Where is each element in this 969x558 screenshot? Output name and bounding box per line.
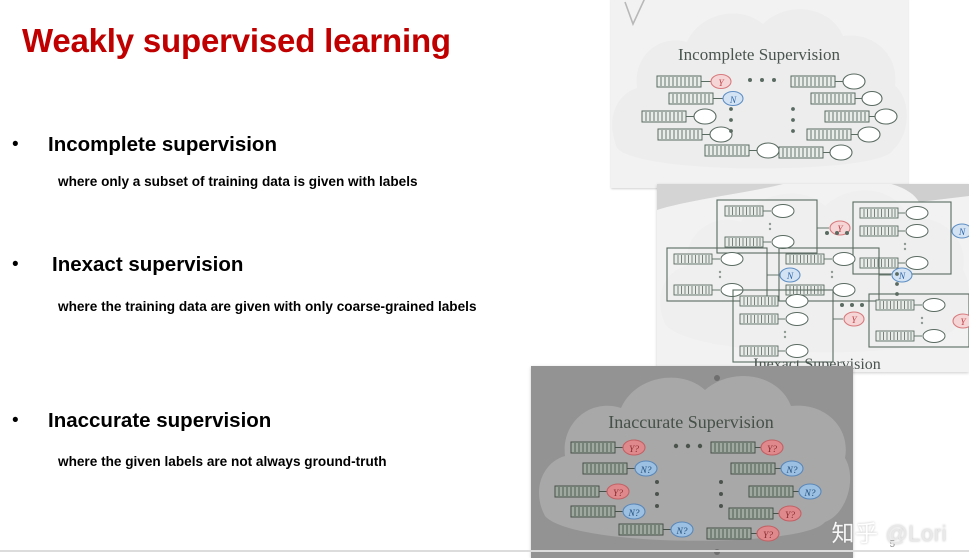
sample-row: Y: [657, 75, 731, 90]
sample-row: [658, 127, 732, 142]
sample-label-no-uncertain: N?: [639, 466, 651, 476]
figure-incomplete-supervision: Incomplete Supervision Y N: [611, 0, 908, 188]
inaccurate-supervision-diagram: Inaccurate Supervision Y? N? Y? N?: [531, 366, 853, 558]
sample-row: Y?: [555, 484, 629, 499]
bag-label-no: N: [786, 272, 794, 282]
sample-row: Y?: [707, 526, 779, 541]
page-number: 5: [889, 539, 895, 550]
sample-label-no-uncertain: N?: [803, 489, 815, 499]
slide-canvas: Weakly supervised learning • Incomplete …: [0, 0, 969, 558]
sample-row: Y?: [729, 506, 801, 521]
sample-row: [791, 74, 865, 89]
bullet-marker-icon: •: [12, 133, 19, 157]
sample-row: N?: [731, 461, 803, 476]
sample-row: [779, 145, 852, 160]
sample-label-yes-uncertain: Y?: [785, 511, 795, 521]
figure-caption-incomplete: Incomplete Supervision: [678, 45, 840, 64]
incomplete-supervision-diagram: Incomplete Supervision Y N: [611, 0, 908, 188]
sample-row: [807, 127, 880, 142]
sample-label-no-uncertain: N?: [675, 527, 687, 537]
sample-label-no-uncertain: N?: [785, 466, 797, 476]
bullet-heading-inexact: Inexact supervision: [52, 253, 243, 277]
sample-row: N?: [571, 504, 645, 519]
sample-row: N: [669, 92, 743, 107]
bag-label-no: N: [958, 228, 966, 238]
inexact-supervision-diagram: Y N: [657, 184, 969, 372]
bullet-marker-icon: •: [12, 253, 19, 277]
bullet-heading-inaccurate: Inaccurate supervision: [48, 409, 271, 433]
sample-row: N?: [749, 484, 821, 499]
sample-row: [825, 109, 897, 124]
figure-inaccurate-supervision: Inaccurate Supervision Y? N? Y? N?: [531, 366, 853, 558]
bullet-heading-incomplete: Incomplete supervision: [48, 133, 277, 157]
bullet-description-inexact: where the training data are given with o…: [58, 299, 477, 314]
sample-row: [642, 109, 716, 124]
sample-row: [811, 92, 882, 106]
sample-label-yes-uncertain: Y?: [767, 445, 777, 455]
sample-label-no: N: [729, 96, 737, 106]
sample-row: [705, 143, 779, 158]
sample-label-yes-uncertain: Y?: [629, 445, 639, 455]
sample-row: Y?: [711, 440, 783, 455]
sample-label-no-uncertain: N?: [627, 509, 639, 519]
figure-inexact-supervision: Y N: [657, 184, 969, 372]
bullet-description-incomplete: where only a subset of training data is …: [58, 174, 418, 189]
bullet-description-inaccurate: where the given labels are not always gr…: [58, 454, 387, 469]
bottom-divider: [0, 550, 969, 552]
figure-caption-inaccurate: Inaccurate Supervision: [608, 412, 773, 432]
bullet-marker-icon: •: [12, 409, 19, 433]
sample-row: Y?: [571, 440, 645, 455]
page-title: Weakly supervised learning: [22, 22, 451, 60]
sample-label-yes-uncertain: Y?: [613, 489, 623, 499]
bag-label-no: N: [898, 272, 906, 282]
sample-row: N?: [583, 461, 657, 476]
sample-label-yes-uncertain: Y?: [763, 531, 773, 541]
sample-row: N?: [619, 522, 693, 537]
